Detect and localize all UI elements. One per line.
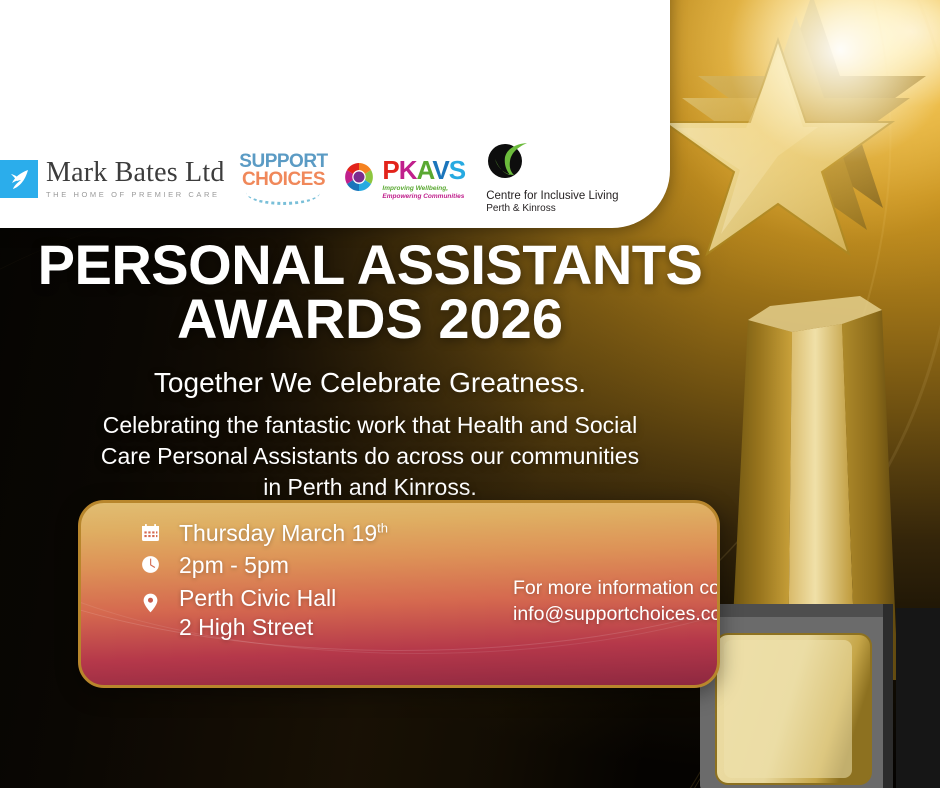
headline-block: PERSONAL ASSISTANTS AWARDS 2026 Together… [0,238,740,503]
pkavs-name: PKAVS [382,157,465,183]
event-date-suffix: th [377,520,388,535]
logo-cil: Centre for Inclusive Living Perth & Kinr… [486,144,656,214]
venue-line-2: 2 High Street [179,613,336,642]
logo-mark-bates: Mark Bates Ltd THE HOME OF PREMIER CARE [0,144,225,214]
contact-block: For more information contact info@suppor… [513,575,720,628]
logo-support-choices: SUPPORT CHOICES [233,144,335,214]
logo-row: Mark Bates Ltd THE HOME OF PREMIER CARE … [0,144,656,214]
clock-icon [139,551,161,574]
calendar-icon [139,519,161,542]
logo-pkavs: PKAVS Improving Wellbeing, Empowering Co… [342,144,478,214]
title-line-2: AWARDS 2026 [177,287,563,350]
description-text: Celebrating the fantastic work that Heal… [90,410,650,503]
venue-line-1: Perth Civic Hall [179,585,336,611]
event-time: 2pm - 5pm [179,551,289,580]
support-choices-text: SUPPORT CHOICES [239,153,327,205]
green-swoosh-circle-icon [486,142,618,186]
page-title: PERSONAL ASSISTANTS AWARDS 2026 [0,238,740,346]
poster-canvas: Mark Bates Ltd THE HOME OF PREMIER CARE … [0,0,940,788]
pkavs-tagline-line1: Improving Wellbeing, [382,185,448,192]
cil-text: Centre for Inclusive Living Perth & Kinr… [486,142,618,216]
bird-icon [0,160,38,198]
detail-row-date: Thursday March 19th [139,519,717,548]
logo-panel: Mark Bates Ltd THE HOME OF PREMIER CARE … [0,0,670,228]
cil-line1: Centre for Inclusive Living [486,189,618,203]
pkavs-text: PKAVS Improving Wellbeing, Empowering Co… [382,157,465,201]
subtitle: Together We Celebrate Greatness. [0,368,740,399]
contact-line-1: For more information contact [513,575,720,601]
map-pin-icon [139,584,161,613]
cil-line2: Perth & Kinross [486,203,618,216]
event-date: Thursday March 19th [179,519,388,548]
contact-email[interactable]: info@supportchoices.co.uk [513,601,720,627]
pkavs-tagline: Improving Wellbeing, Empowering Communit… [382,185,465,201]
mark-bates-text: Mark Bates Ltd THE HOME OF PREMIER CARE [46,159,225,199]
pkavs-tagline-line2: Empowering Communities [382,193,464,200]
event-date-main: Thursday March 19 [179,520,377,546]
event-venue: Perth Civic Hall 2 High Street [179,584,336,643]
event-details-card: Thursday March 19th 2pm - 5pm [78,500,720,688]
mark-bates-tagline: THE HOME OF PREMIER CARE [46,191,225,199]
mark-bates-name: Mark Bates Ltd [46,159,225,187]
pkavs-swirl-icon [342,160,376,199]
support-choices-line2: CHOICES [239,171,327,189]
dotted-arc-icon [246,190,320,205]
